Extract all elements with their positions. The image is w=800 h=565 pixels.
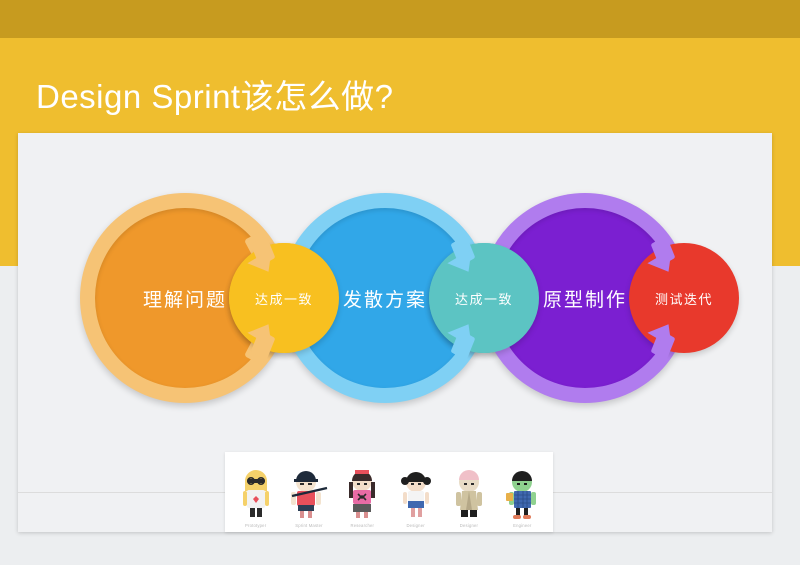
page-title: Design Sprint该怎么做?: [36, 70, 393, 118]
team-member-caption: Designer: [406, 523, 424, 528]
character-icon: [289, 466, 329, 520]
team-member-caption: Researcher: [350, 523, 374, 528]
connector-circle-2-overlay[interactable]: 达成一致: [429, 243, 539, 353]
team-member[interactable]: Engineer: [498, 466, 546, 528]
stage-label-2: 发散方案: [343, 285, 427, 312]
endcap-circle[interactable]: 测试迭代: [629, 243, 739, 353]
character-icon: [241, 466, 271, 520]
team-member[interactable]: Researcher: [338, 466, 386, 528]
top-accent-strip: [0, 0, 800, 38]
team-member[interactable]: Sprint Master: [285, 466, 333, 528]
connector-circle-1-overlay[interactable]: 达成一致: [229, 243, 339, 353]
team-member-caption: Sprint Master: [295, 523, 323, 528]
stage-label-1: 理解问题: [143, 285, 227, 312]
team-member-caption: Engineer: [513, 523, 531, 528]
character-icon: [505, 466, 539, 520]
team-member[interactable]: Designer: [445, 466, 493, 528]
stage-label-3: 原型制作: [543, 285, 627, 312]
team-member-caption: Prototyper: [245, 523, 266, 528]
team-member[interactable]: Prototyper: [232, 466, 280, 528]
character-icon: [346, 466, 378, 520]
team-roles-strip: Prototyper Sprint M: [225, 452, 553, 532]
slide-canvas: Design Sprint该怎么做? 理解问题 达成一致 发散方案 达成一致: [0, 0, 800, 565]
connector-label-2-overlay: 达成一致: [455, 289, 513, 308]
connector-label-1-overlay: 达成一致: [255, 289, 313, 308]
character-icon: [453, 466, 485, 520]
team-member[interactable]: Designer: [392, 466, 440, 528]
character-icon: [400, 466, 432, 520]
team-member-caption: Designer: [460, 523, 478, 528]
endcap-label: 测试迭代: [655, 289, 713, 308]
